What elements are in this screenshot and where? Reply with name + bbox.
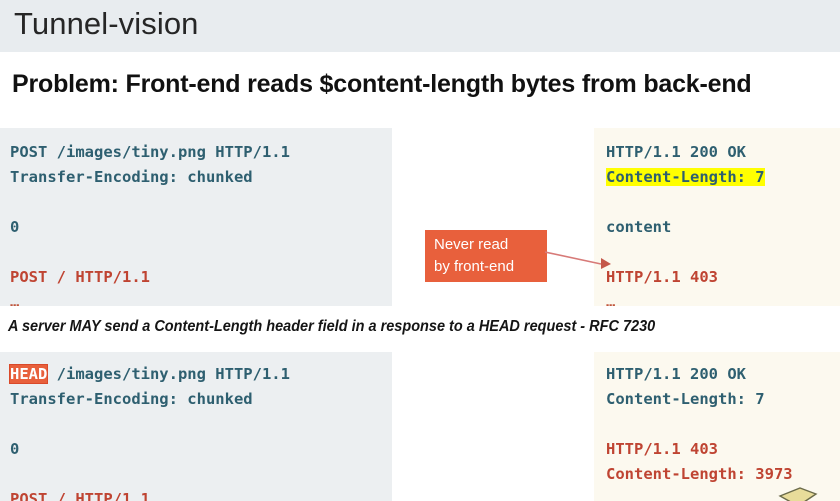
code-token: … (606, 490, 616, 501)
page-title: Tunnel-vision (14, 6, 199, 42)
code-line (10, 412, 392, 437)
code-line: HTTP/1.1 403 (606, 265, 840, 290)
code-line: POST /images/tiny.png HTTP/1.1 (10, 140, 392, 165)
code-token: HTTP/1.1 403 (606, 268, 718, 286)
rfc-quote: A server MAY send a Content-Length heade… (8, 318, 655, 336)
code-line: POST / HTTP/1.1 (10, 487, 392, 501)
code-token: /images/tiny.png HTTP/1.1 (47, 365, 290, 383)
slide-subtitle: Problem: Front-end reads $content-length… (12, 70, 751, 99)
slide: Tunnel-vision Problem: Front-end reads $… (0, 0, 840, 501)
code-token: POST / HTTP/1.1 (10, 268, 150, 286)
code-line: Content-Length: 7 (606, 165, 840, 190)
code-token: HEAD (10, 365, 47, 383)
code-line: 0 (10, 437, 392, 462)
code-token: POST / HTTP/1.1 (10, 490, 150, 501)
code-token: HTTP/1.1 403 (606, 440, 718, 458)
callout-arrow-icon (545, 248, 615, 276)
code-token: Transfer-Encoding: chunked (10, 390, 253, 408)
code-line: HTTP/1.1 403 (606, 437, 840, 462)
code-line (10, 240, 392, 265)
code-line: content (606, 215, 840, 240)
code-token: 0 (10, 218, 19, 236)
code-line: … (10, 290, 392, 306)
code-token: … (10, 293, 20, 306)
code-line (606, 240, 840, 265)
code-token: … (606, 293, 616, 306)
code-line (606, 190, 840, 215)
code-line: POST / HTTP/1.1 (10, 265, 392, 290)
callout-never-read: Never read by front-end (425, 230, 547, 282)
code-line: Transfer-Encoding: chunked (10, 387, 392, 412)
code-token: 0 (10, 440, 19, 458)
cursor-icon (778, 482, 818, 501)
callout-line-1: Never read (434, 234, 547, 256)
code-line: … (606, 290, 840, 306)
code-token: Content-Length: 3973 (606, 465, 793, 483)
request-code-block-bottom: HEAD /images/tiny.png HTTP/1.1Transfer-E… (0, 352, 392, 501)
code-token: HTTP/1.1 200 OK (606, 143, 746, 161)
code-line: 0 (10, 215, 392, 240)
code-token: HTTP/1.1 200 OK (606, 365, 746, 383)
code-token: content (606, 218, 671, 236)
response-code-block-bottom: HTTP/1.1 200 OKContent-Length: 7 HTTP/1.… (594, 352, 840, 501)
request-code-block-top: POST /images/tiny.png HTTP/1.1Transfer-E… (0, 128, 392, 306)
code-line: HTTP/1.1 200 OK (606, 362, 840, 387)
code-line: Content-Length: 7 (606, 387, 840, 412)
code-token: Content-Length: 7 (606, 390, 765, 408)
code-line (10, 462, 392, 487)
code-token: POST /images/tiny.png HTTP/1.1 (10, 143, 290, 161)
response-code-block-top: HTTP/1.1 200 OKContent-Length: 7 content… (594, 128, 840, 306)
code-line (10, 190, 392, 215)
code-line: Transfer-Encoding: chunked (10, 165, 392, 190)
code-line (606, 412, 840, 437)
code-line: HEAD /images/tiny.png HTTP/1.1 (10, 362, 392, 387)
callout-line-2: by front-end (434, 256, 547, 278)
code-line: HTTP/1.1 200 OK (606, 140, 840, 165)
code-token: Content-Length: 7 (606, 168, 765, 186)
code-token: Transfer-Encoding: chunked (10, 168, 253, 186)
